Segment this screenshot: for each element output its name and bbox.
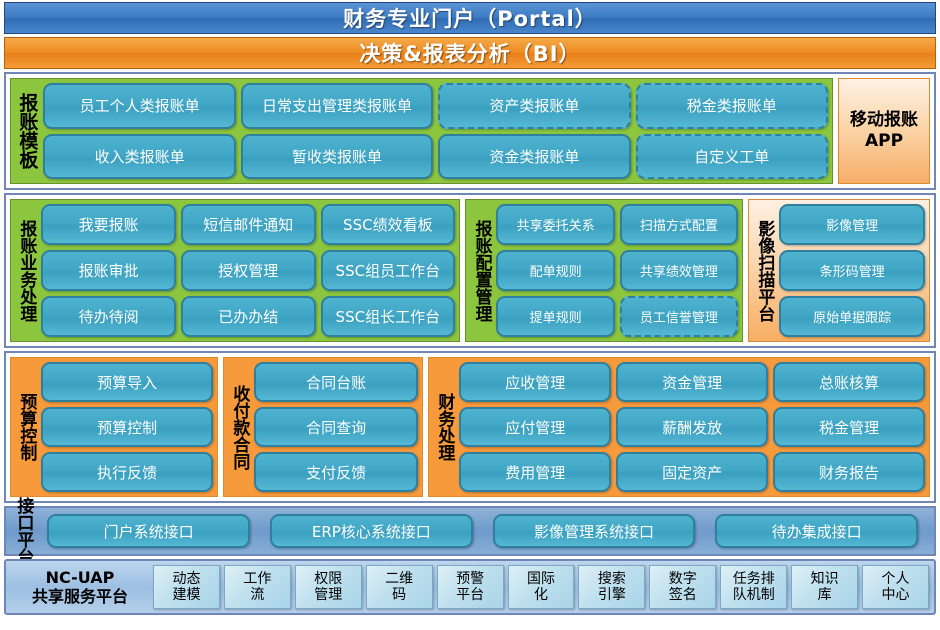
template-frame: 报账模板 员工个人类报账单 日常支出管理类报账单 资产类报账单 税金类报账单 收… <box>4 72 936 190</box>
budget-button-control[interactable]: 预算控制 <box>41 407 213 447</box>
template-panel: 报账模板 员工个人类报账单 日常支出管理类报账单 资产类报账单 税金类报账单 收… <box>10 78 833 184</box>
contract-row-3: 支付反馈 <box>254 452 418 492</box>
template-button-custom-order[interactable]: 自定义工单 <box>636 134 828 180</box>
contract-button-query[interactable]: 合同查询 <box>254 407 418 447</box>
config-button-shared-performance[interactable]: 共享绩效管理 <box>620 250 738 291</box>
business-button-ssc-performance-board[interactable]: SSC绩效看板 <box>321 204 456 245</box>
finance-row-3: 费用管理 固定资产 财务报告 <box>459 452 925 492</box>
service-button-permission-mgmt[interactable]: 权限 管理 <box>295 565 362 609</box>
contract-button-grid: 合同台账 合同查询 支付反馈 <box>254 362 418 492</box>
interface-button-image-mgmt-system[interactable]: 影像管理系统接口 <box>493 514 696 548</box>
finance-button-fixed-assets[interactable]: 固定资产 <box>616 452 768 492</box>
config-button-submit-rule[interactable]: 提单规则 <box>496 296 614 337</box>
mobile-app-label: 移动报账APP <box>845 110 923 153</box>
template-button-fund[interactable]: 资金类报账单 <box>438 134 630 180</box>
bi-title-banner: 决策&报表分析（BI） <box>4 37 936 69</box>
interface-button-todo-integration[interactable]: 待办集成接口 <box>715 514 918 548</box>
mobile-app-box[interactable]: 移动报账APP <box>838 78 930 184</box>
interface-button-erp-core-system[interactable]: ERP核心系统接口 <box>270 514 473 548</box>
finance-button-payroll[interactable]: 薪酬发放 <box>616 407 768 447</box>
config-row-2: 配单规则 共享绩效管理 <box>496 250 738 291</box>
budget-button-grid: 预算导入 预算控制 执行反馈 <box>41 362 213 492</box>
business-button-ssc-member-workbench[interactable]: SSC组员工作台 <box>321 250 456 291</box>
template-row-2: 收入类报账单 暂收类报账单 资金类报账单 自定义工单 <box>43 134 828 180</box>
imaging-button-image-mgmt[interactable]: 影像管理 <box>779 204 925 245</box>
template-button-daily-expense[interactable]: 日常支出管理类报账单 <box>241 83 433 129</box>
business-button-grid: 我要报账 短信邮件通知 SSC绩效看板 报账审批 授权管理 SSC组员工作台 待… <box>41 204 455 337</box>
config-button-grid: 共享委托关系 扫描方式配置 配单规则 共享绩效管理 提单规则 员工信誉管理 <box>496 204 738 337</box>
ncuap-platform-bar: NC-UAP 共享服务平台 动态 建模 工作 流 权限 管理 二维 码 预警 平… <box>4 559 936 615</box>
imaging-panel-label: 影像扫描平台 <box>753 204 774 337</box>
finance-processing-panel: 财务处理 应收管理 资金管理 总账核算 应付管理 薪酬发放 税金管理 费用管理 … <box>428 357 930 497</box>
service-button-personal-center[interactable]: 个人 中心 <box>862 565 929 609</box>
service-button-search-engine[interactable]: 搜索 引擎 <box>578 565 645 609</box>
config-panel: 报账配置管理 共享委托关系 扫描方式配置 配单规则 共享绩效管理 提单规则 员工… <box>465 199 743 342</box>
imaging-button-original-doc-tracking[interactable]: 原始单据跟踪 <box>779 296 925 337</box>
service-button-task-queue[interactable]: 任务排 队机制 <box>720 565 787 609</box>
business-button-authorization-mgmt[interactable]: 授权管理 <box>181 250 316 291</box>
contract-button-ledger[interactable]: 合同台账 <box>254 362 418 402</box>
portal-title-banner: 财务专业门户（Portal） <box>4 2 936 34</box>
template-panel-label: 报账模板 <box>15 83 38 179</box>
service-button-qr-code[interactable]: 二维 码 <box>366 565 433 609</box>
imaging-row-1: 影像管理 <box>779 204 925 245</box>
business-row-2: 报账审批 授权管理 SSC组员工作台 <box>41 250 455 291</box>
finance-button-financial-report[interactable]: 财务报告 <box>773 452 925 492</box>
finance-button-tax-mgmt[interactable]: 税金管理 <box>773 407 925 447</box>
config-row-1: 共享委托关系 扫描方式配置 <box>496 204 738 245</box>
interface-platform-label: 接口平台 <box>12 497 33 565</box>
budget-panel-label: 预算控制 <box>15 362 36 492</box>
interface-button-row: 门户系统接口 ERP核心系统接口 影像管理系统接口 待办集成接口 <box>47 514 928 548</box>
portal-architecture-diagram: 财务专业门户（Portal） 决策&报表分析（BI） 报账模板 员工个人类报账单… <box>0 0 940 630</box>
budget-button-import[interactable]: 预算导入 <box>41 362 213 402</box>
finance-button-general-ledger[interactable]: 总账核算 <box>773 362 925 402</box>
business-frame: 报账业务处理 我要报账 短信邮件通知 SSC绩效看板 报账审批 授权管理 SSC… <box>4 193 936 348</box>
business-panel: 报账业务处理 我要报账 短信邮件通知 SSC绩效看板 报账审批 授权管理 SSC… <box>10 199 460 342</box>
budget-row-3: 执行反馈 <box>41 452 213 492</box>
budget-row-1: 预算导入 <box>41 362 213 402</box>
ncuap-title-line2: 共享服务平台 <box>32 587 128 606</box>
bi-title-text: 决策&报表分析（BI） <box>359 38 580 68</box>
finance-button-expense-mgmt[interactable]: 费用管理 <box>459 452 611 492</box>
business-button-sms-email-notice[interactable]: 短信邮件通知 <box>181 204 316 245</box>
contract-row-2: 合同查询 <box>254 407 418 447</box>
template-button-income[interactable]: 收入类报账单 <box>43 134 235 180</box>
finance-button-fund-mgmt[interactable]: 资金管理 <box>616 362 768 402</box>
finance-button-payables[interactable]: 应付管理 <box>459 407 611 447</box>
interface-button-portal-system[interactable]: 门户系统接口 <box>47 514 250 548</box>
service-button-workflow[interactable]: 工作 流 <box>224 565 291 609</box>
budget-row-2: 预算控制 <box>41 407 213 447</box>
service-button-internationalization[interactable]: 国际 化 <box>508 565 575 609</box>
config-panel-label: 报账配置管理 <box>470 204 491 337</box>
imaging-panel: 影像扫描平台 影像管理 条形码管理 原始单据跟踪 <box>748 199 930 342</box>
business-button-ssc-leader-workbench[interactable]: SSC组长工作台 <box>321 296 456 337</box>
contract-panel: 收付款合同 合同台账 合同查询 支付反馈 <box>223 357 423 497</box>
service-button-knowledge-base[interactable]: 知识 库 <box>791 565 858 609</box>
imaging-button-grid: 影像管理 条形码管理 原始单据跟踪 <box>779 204 925 337</box>
budget-button-execution-feedback[interactable]: 执行反馈 <box>41 452 213 492</box>
config-button-dispatch-rule[interactable]: 配单规则 <box>496 250 614 291</box>
finance-button-grid: 应收管理 资金管理 总账核算 应付管理 薪酬发放 税金管理 费用管理 固定资产 … <box>459 362 925 492</box>
config-row-3: 提单规则 员工信誉管理 <box>496 296 738 337</box>
ncuap-title-line1: NC-UAP <box>46 568 115 587</box>
config-button-scan-mode[interactable]: 扫描方式配置 <box>620 204 738 245</box>
imaging-row-2: 条形码管理 <box>779 250 925 291</box>
service-button-dynamic-modeling[interactable]: 动态 建模 <box>153 565 220 609</box>
business-panel-label: 报账业务处理 <box>15 204 36 337</box>
template-button-grid: 员工个人类报账单 日常支出管理类报账单 资产类报账单 税金类报账单 收入类报账单… <box>43 83 828 179</box>
template-button-employee-personal[interactable]: 员工个人类报账单 <box>43 83 235 129</box>
imaging-row-3: 原始单据跟踪 <box>779 296 925 337</box>
budget-panel: 预算控制 预算导入 预算控制 执行反馈 <box>10 357 218 497</box>
finance-row-2: 应付管理 薪酬发放 税金管理 <box>459 407 925 447</box>
contract-button-payment-feedback[interactable]: 支付反馈 <box>254 452 418 492</box>
finance-frame: 预算控制 预算导入 预算控制 执行反馈 收付款合同 合同台账 <box>4 351 936 503</box>
ncuap-label: NC-UAP 共享服务平台 <box>11 565 149 609</box>
business-button-todo-toread[interactable]: 待办待阅 <box>41 296 176 337</box>
service-button-alert-platform[interactable]: 预警 平台 <box>437 565 504 609</box>
interface-platform-bar: 接口平台 门户系统接口 ERP核心系统接口 影像管理系统接口 待办集成接口 <box>4 506 936 556</box>
finance-button-receivables[interactable]: 应收管理 <box>459 362 611 402</box>
config-button-employee-credit[interactable]: 员工信誉管理 <box>620 296 738 337</box>
template-button-asset[interactable]: 资产类报账单 <box>438 83 630 129</box>
business-row-3: 待办待阅 已办办结 SSC组长工作台 <box>41 296 455 337</box>
finance-row-1: 应收管理 资金管理 总账核算 <box>459 362 925 402</box>
template-button-provisional-receipt[interactable]: 暂收类报账单 <box>241 134 433 180</box>
contract-panel-label: 收付款合同 <box>228 362 249 492</box>
finance-panel-label: 财务处理 <box>433 362 454 492</box>
business-button-i-want-reimburse[interactable]: 我要报账 <box>41 204 176 245</box>
business-row-1: 我要报账 短信邮件通知 SSC绩效看板 <box>41 204 455 245</box>
business-button-reimburse-approval[interactable]: 报账审批 <box>41 250 176 291</box>
contract-row-1: 合同台账 <box>254 362 418 402</box>
business-button-done-closed[interactable]: 已办办结 <box>181 296 316 337</box>
template-row-1: 员工个人类报账单 日常支出管理类报账单 资产类报账单 税金类报账单 <box>43 83 828 129</box>
portal-title-text: 财务专业门户（Portal） <box>343 3 597 33</box>
service-button-digital-signature[interactable]: 数字 签名 <box>649 565 716 609</box>
imaging-button-barcode-mgmt[interactable]: 条形码管理 <box>779 250 925 291</box>
config-button-shared-delegation[interactable]: 共享委托关系 <box>496 204 614 245</box>
template-button-tax[interactable]: 税金类报账单 <box>636 83 828 129</box>
